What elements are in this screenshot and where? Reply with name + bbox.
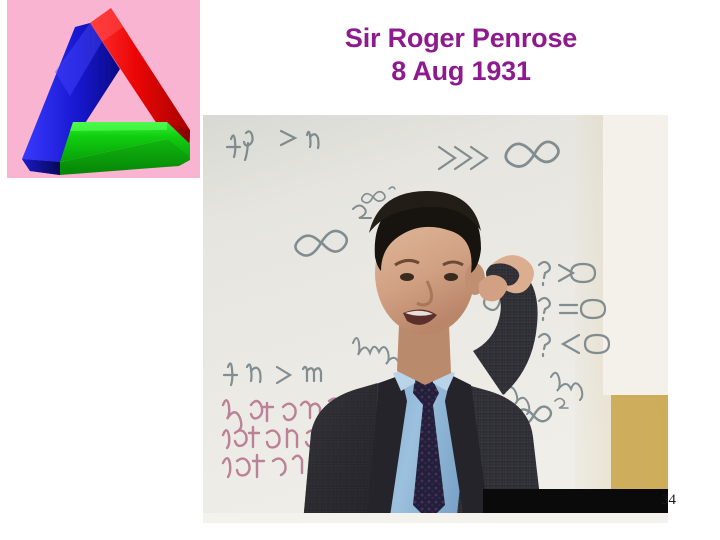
page-title: Sir Roger Penrose 8 Aug 1931	[200, 22, 720, 88]
photo-bottom-edge	[203, 513, 668, 523]
slide-number: 34	[661, 492, 676, 509]
wall-right-upper	[603, 115, 668, 395]
title-line-date: 8 Aug 1931	[200, 55, 720, 88]
penrose-triangle-logo	[7, 0, 200, 178]
photo-content	[203, 115, 668, 523]
eye-right	[444, 273, 458, 281]
floor-band	[483, 489, 668, 513]
title-line-name: Sir Roger Penrose	[200, 22, 720, 55]
roger-penrose-lecturing-photo	[203, 115, 668, 523]
penrose-triangle-graphic	[7, 0, 200, 178]
eye-left	[400, 273, 414, 281]
slide-canvas: Sir Roger Penrose 8 Aug 1931	[0, 0, 720, 540]
